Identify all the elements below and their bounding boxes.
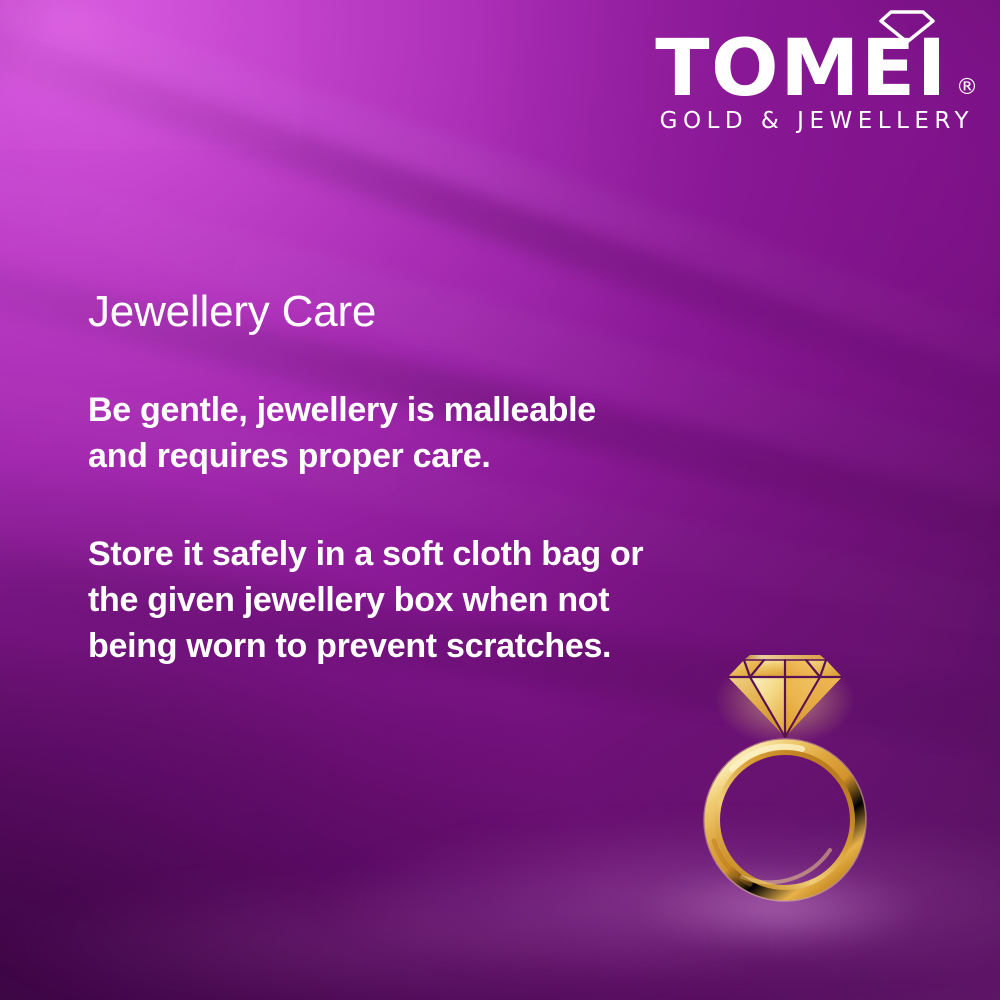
copy-block: Jewellery Care Be gentle, jewellery is m… [88, 288, 648, 670]
registered-trademark-symbol: ® [948, 75, 978, 106]
brand-logo: TOMEI ® GOLD & JEWELLERY [638, 8, 978, 134]
brand-wordmark: TOMEI [655, 8, 948, 106]
body-paragraph-2: Store it safely in a soft cloth bag or t… [88, 532, 648, 670]
ring-band [704, 739, 866, 901]
page-title: Jewellery Care [88, 288, 648, 336]
diamond-ring-illustration [690, 645, 880, 915]
poster-canvas: TOMEI ® GOLD & JEWELLERY Jewellery Care … [0, 0, 1000, 1000]
body-paragraph-1: Be gentle, jewellery is malleable and re… [88, 388, 648, 480]
brand-logo-wordmark-row: TOMEI ® [638, 8, 978, 106]
